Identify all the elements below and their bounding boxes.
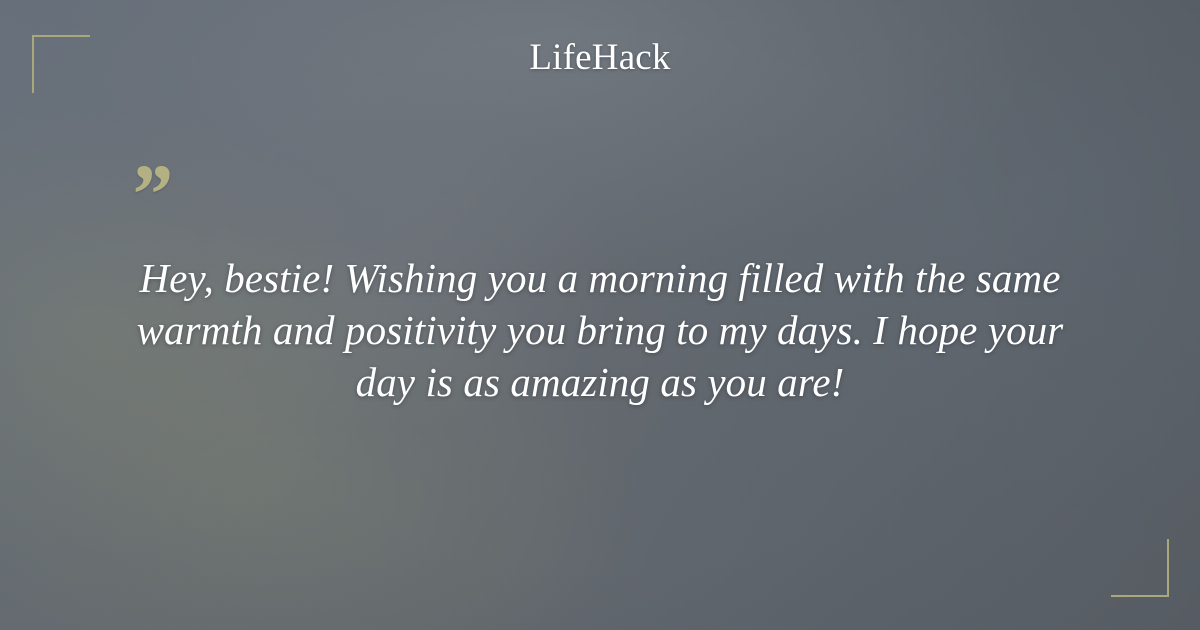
corner-bracket-bottom-right-icon — [1111, 539, 1169, 597]
brand-logo: LifeHack — [0, 36, 1200, 80]
brand-name: LifeHack — [529, 36, 670, 80]
quote-block: ” Hey, bestie! Wishing you a morning fil… — [128, 168, 1072, 408]
quote-text: Hey, bestie! Wishing you a morning fille… — [128, 252, 1072, 408]
quote-card: LifeHack ” Hey, bestie! Wishing you a mo… — [0, 0, 1200, 630]
quotation-mark-icon: ” — [128, 168, 1072, 226]
